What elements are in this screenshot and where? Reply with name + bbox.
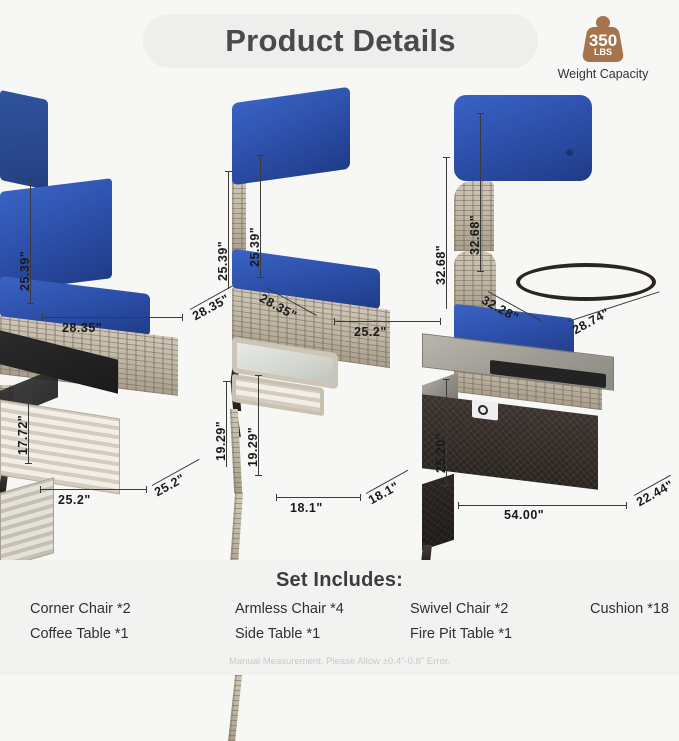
list-item: Side Table *1 [235, 626, 410, 642]
dim-armless-chair-height: 25.39" [248, 227, 262, 267]
product-swivel-chair: 32.68" 32.28" 28.74" [454, 95, 679, 345]
list-item: Corner Chair *2 [30, 601, 235, 617]
badge-caption: Weight Capacity [539, 67, 667, 81]
product-coffee-table: 17.72" 25.2" 25.2" 19.29" [0, 345, 232, 535]
page-header: Product Details 350 LBS Weight Capacity [0, 0, 679, 95]
dim-coffee-table-height-right: 19.29" [214, 421, 228, 461]
dim-coffee-table-height: 17.72" [16, 415, 30, 455]
page-title: Product Details [143, 14, 538, 68]
dim-side-table-width: 18.1" [290, 501, 323, 515]
set-includes-title: Set Includes: [0, 560, 679, 592]
dim-fire-pit-height: 25.20" [434, 433, 448, 473]
dim-side-table-height: 19.29" [246, 427, 260, 467]
product-fire-pit-table: 25.20" 54.00" 22.44" [422, 345, 679, 535]
list-item: Armless Chair *4 [235, 601, 410, 617]
set-includes-section: Set Includes: Corner Chair *2 Armless Ch… [0, 560, 679, 675]
weight-kettlebell-icon: 350 LBS [577, 14, 629, 64]
dim-fire-pit-width: 54.00" [504, 508, 544, 522]
product-armless-chair: 25.39" 28.35" 25.2" 32.68" [232, 95, 454, 345]
dim-armless-chair-height-right: 32.68" [434, 245, 448, 285]
product-row-tables: 17.72" 25.2" 25.2" 19.29" 19.29" [0, 345, 679, 535]
dim-corner-chair-height-right: 25.39" [216, 241, 230, 281]
measurement-disclaimer: Manual Measurement, Please Allow ±0.4"-0… [0, 656, 679, 667]
list-item: Fire Pit Table *1 [410, 626, 590, 642]
list-item: Coffee Table *1 [30, 626, 235, 642]
coffee-table-illustration [0, 345, 120, 589]
fire-pit-table-illustration [422, 345, 614, 583]
side-table-illustration [232, 345, 338, 741]
dim-corner-chair-width: 28.35" [62, 321, 102, 335]
dim-coffee-table-width: 25.2" [58, 493, 91, 507]
list-item: Cushion *18 [590, 601, 679, 617]
set-includes-list: Corner Chair *2 Armless Chair *4 Swivel … [0, 592, 679, 642]
dim-corner-chair-height: 25.39" [18, 251, 32, 291]
badge-unit: LBS [577, 48, 629, 57]
dim-swivel-chair-height: 32.68" [468, 215, 482, 255]
product-row-seating: 25.39" 28.35" 28.35" 25.39" [0, 95, 679, 345]
weight-capacity-badge: 350 LBS Weight Capacity [539, 14, 667, 81]
product-side-table: 19.29" 18.1" 18.1" [232, 345, 422, 535]
list-item: Swivel Chair *2 [410, 601, 590, 617]
dim-armless-chair-width: 25.2" [354, 325, 387, 339]
product-corner-chair: 25.39" 28.35" 28.35" 25.39" [0, 95, 232, 345]
